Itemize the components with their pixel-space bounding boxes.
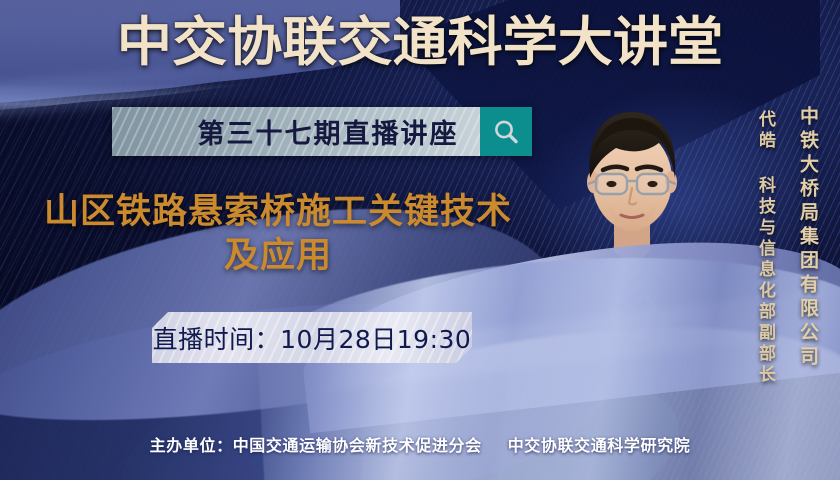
schedule-badge: 直播时间：10月28日19:30: [152, 312, 472, 363]
page-title: 中交协联交通科学大讲堂: [0, 14, 840, 72]
schedule-text: 直播时间：10月28日19:30: [153, 320, 472, 356]
speaker-name-title: 代皓 科技与信息化部副部长: [753, 110, 778, 386]
footer-organizer-2: 中交协联交通科学研究院: [508, 436, 691, 455]
footer-prefix: 主办单位：: [150, 436, 233, 455]
search-icon: [491, 117, 521, 147]
topic-line-2: 及应用: [18, 234, 538, 278]
topic-line-1: 山区铁路悬索桥施工关键技术: [44, 192, 512, 232]
speaker-organization: 中铁大桥局集团有限公司: [795, 106, 822, 370]
episode-label: 第三十七期直播讲座: [128, 112, 465, 151]
topic-title: 山区铁路悬索桥施工关键技术 及应用: [18, 190, 538, 278]
episode-bar-body: 第三十七期直播讲座: [112, 107, 480, 156]
footer-organizer-1: 中国交通运输协会新技术促进分会: [233, 436, 482, 455]
episode-bar[interactable]: 第三十七期直播讲座: [112, 107, 532, 156]
search-button[interactable]: [480, 107, 532, 156]
event-poster: 中交协联交通科学大讲堂 第三十七期直播讲座 山区铁路悬索桥施工关键技术 及应用 …: [0, 0, 840, 480]
footer-organizers: 主办单位：中国交通运输协会新技术促进分会中交协联交通科学研究院: [0, 432, 840, 456]
